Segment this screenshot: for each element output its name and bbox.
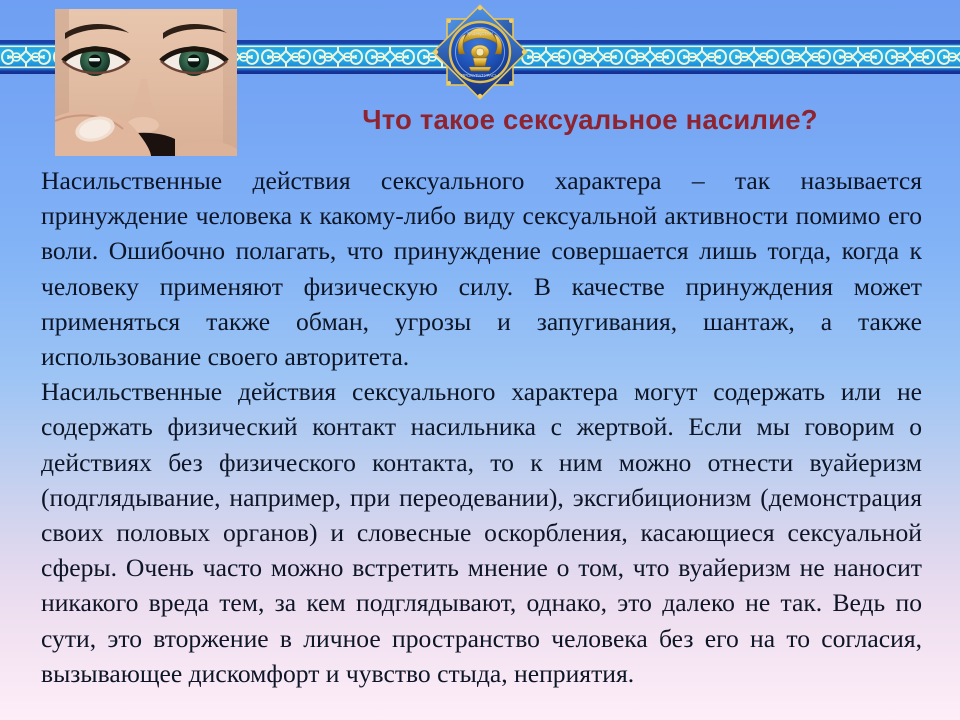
photo-eyes-hand-over-mouth	[55, 9, 237, 156]
svg-text:ҚАЗАҚСТАН: ҚАЗАҚСТАН	[467, 31, 492, 36]
paragraph-2: Насильственные действия сексуального хар…	[41, 374, 922, 691]
emblem-star-icon: ҚАЗАҚСТАН ПРОКУРАТУРАСЫ	[432, 2, 528, 102]
paragraph-1: Насильственные действия сексуального хар…	[41, 163, 922, 374]
presentation-slide: ҚАЗАҚСТАН ПРОКУРАТУРАСЫ Что такое сексуа…	[0, 0, 960, 720]
slide-body-text: Насильственные действия сексуального хар…	[41, 163, 922, 691]
page-title: Что такое сексуальное насилие?	[250, 104, 930, 136]
prosecutor-office-kazakhstan-emblem: ҚАЗАҚСТАН ПРОКУРАТУРАСЫ	[432, 2, 528, 102]
photo-illustration	[55, 9, 237, 156]
svg-text:ПРОКУРАТУРАСЫ: ПРОКУРАТУРАСЫ	[461, 73, 499, 78]
